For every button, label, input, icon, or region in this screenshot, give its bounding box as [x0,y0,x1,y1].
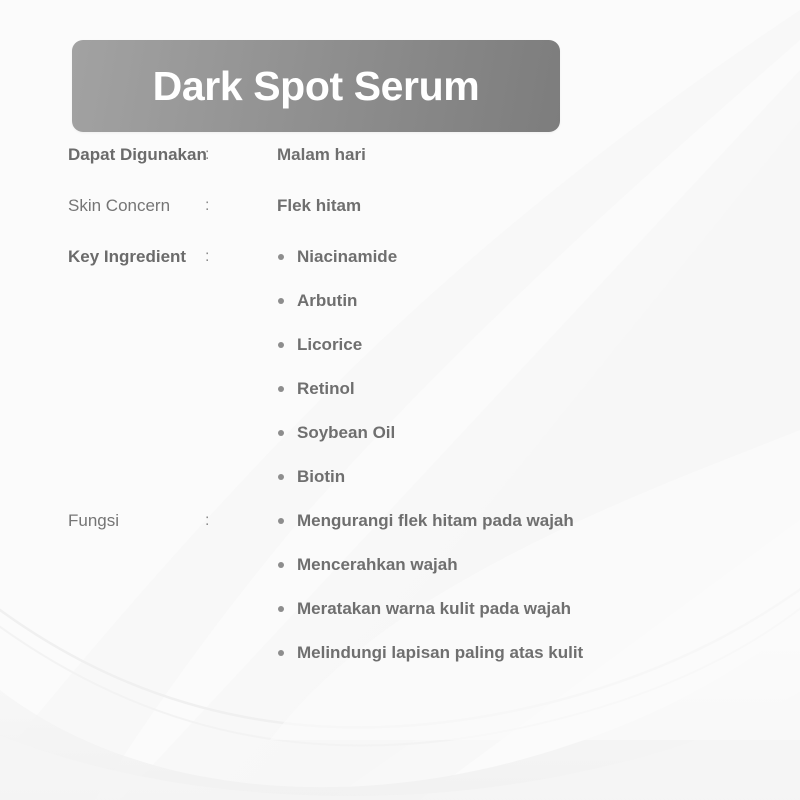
key-ingredient-list: Niacinamide Arbutin Licorice Retinol Soy… [277,246,800,510]
spec-separator: : [205,246,277,268]
list-item-label: Melindungi lapisan paling atas kulit [297,643,583,662]
spec-separator: : [205,510,277,532]
spec-separator: : [205,144,277,166]
list-item: Mencerahkan wajah [277,554,800,598]
list-item-label: Niacinamide [297,247,397,266]
bullet-dot-icon [278,518,284,524]
spec-value-dapat-digunakan: Malam hari [277,144,800,166]
list-item: Melindungi lapisan paling atas kulit [277,642,800,686]
bullet-dot-icon [278,562,284,568]
bullet-dot-icon [278,650,284,656]
spec-row-key-ingredient: Key Ingredient : Niacinamide Arbutin Lic… [0,246,800,510]
spec-value-key-ingredient: Niacinamide Arbutin Licorice Retinol Soy… [277,246,800,510]
list-item-label: Soybean Oil [297,423,395,442]
bullet-dot-icon [278,254,284,260]
bullet-dot-icon [278,342,284,348]
list-item: Biotin [277,466,800,510]
spec-table: Dapat Digunakan : Malam hari Skin Concer… [0,144,800,686]
list-item: Meratakan warna kulit pada wajah [277,598,800,642]
list-item: Retinol [277,378,800,422]
list-item-label: Mengurangi flek hitam pada wajah [297,511,574,530]
list-item: Arbutin [277,290,800,334]
list-item: Mengurangi flek hitam pada wajah [277,510,800,554]
bullet-dot-icon [278,386,284,392]
fungsi-list: Mengurangi flek hitam pada wajah Mencera… [277,510,800,686]
spec-label-dapat-digunakan: Dapat Digunakan [0,144,205,166]
list-item: Soybean Oil [277,422,800,466]
list-item-label: Mencerahkan wajah [297,555,458,574]
spec-value-fungsi: Mengurangi flek hitam pada wajah Mencera… [277,510,800,686]
bullet-dot-icon [278,298,284,304]
bullet-dot-icon [278,606,284,612]
spec-label-skin-concern: Skin Concern [0,195,205,217]
spec-value-skin-concern: Flek hitam [277,195,800,217]
product-title-banner: Dark Spot Serum [72,40,560,132]
spec-label-key-ingredient: Key Ingredient [0,246,205,268]
list-item: Licorice [277,334,800,378]
page-title: Dark Spot Serum [153,66,480,107]
bullet-dot-icon [278,474,284,480]
list-item-label: Meratakan warna kulit pada wajah [297,599,571,618]
spec-row-fungsi: Fungsi : Mengurangi flek hitam pada waja… [0,510,800,686]
list-item-label: Biotin [297,467,345,486]
spec-row-skin-concern: Skin Concern : Flek hitam [0,195,800,246]
spec-label-fungsi: Fungsi [0,510,205,532]
list-item-label: Retinol [297,379,355,398]
list-item: Niacinamide [277,246,800,290]
list-item-label: Arbutin [297,291,357,310]
list-item-label: Licorice [297,335,362,354]
spec-separator: : [205,195,277,217]
product-spec-card: Dark Spot Serum Dapat Digunakan : Malam … [0,0,800,800]
bullet-dot-icon [278,430,284,436]
spec-row-dapat-digunakan: Dapat Digunakan : Malam hari [0,144,800,195]
